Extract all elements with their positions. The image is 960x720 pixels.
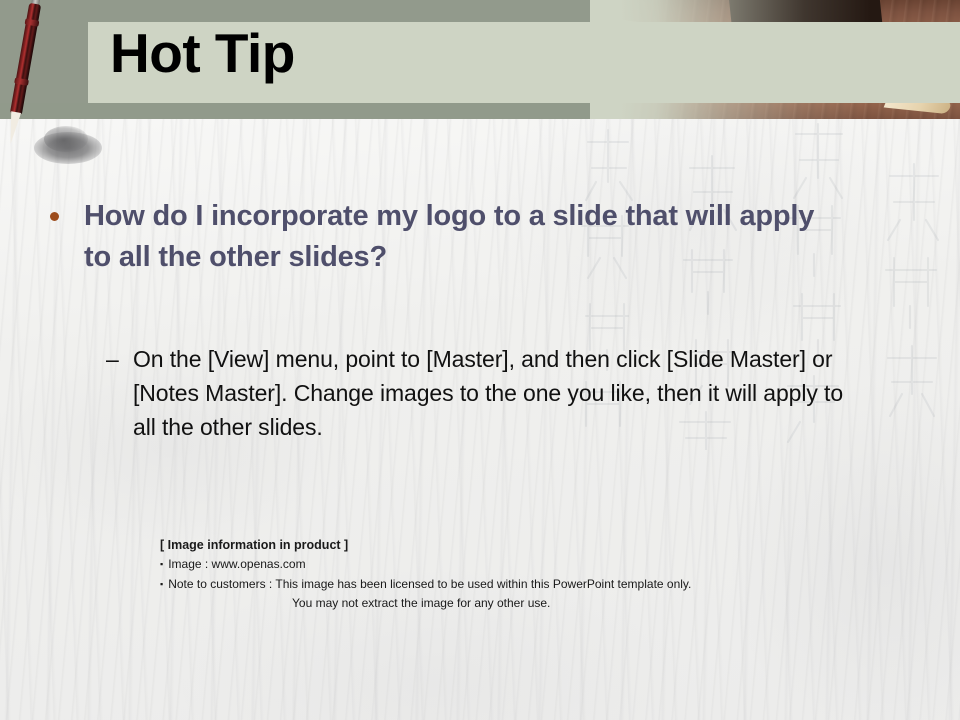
image-information-note: [ Image information in product ] ▪ Image… [160,536,840,614]
slide-body: How do I incorporate my logo to a slide … [0,0,960,720]
presentation-slide: Hot Tip How do I incorporate my logo to … [0,0,960,720]
square-bullet-icon: ▪ [160,560,163,569]
bullet-item-level2: – On the [View] menu, point to [Master],… [106,342,866,444]
footnote-image-source: Image : www.openas.com [168,555,305,574]
dash-marker-icon: – [106,342,133,376]
footnote-line-note: ▪ Note to customers : This image has bee… [160,575,840,594]
bullet-dot-icon [50,212,59,221]
square-bullet-icon: ▪ [160,580,163,589]
bullet-item-level1: How do I incorporate my logo to a slide … [50,196,840,278]
bullet-level1-text: How do I incorporate my logo to a slide … [84,196,840,278]
footnote-line-image: ▪ Image : www.openas.com [160,555,840,574]
footnote-customer-note: Note to customers : This image has been … [168,575,691,594]
footnote-continuation: You may not extract the image for any ot… [160,594,840,613]
footnote-title: [ Image information in product ] [160,536,840,555]
bullet-level2-text: On the [View] menu, point to [Master], a… [133,342,866,444]
